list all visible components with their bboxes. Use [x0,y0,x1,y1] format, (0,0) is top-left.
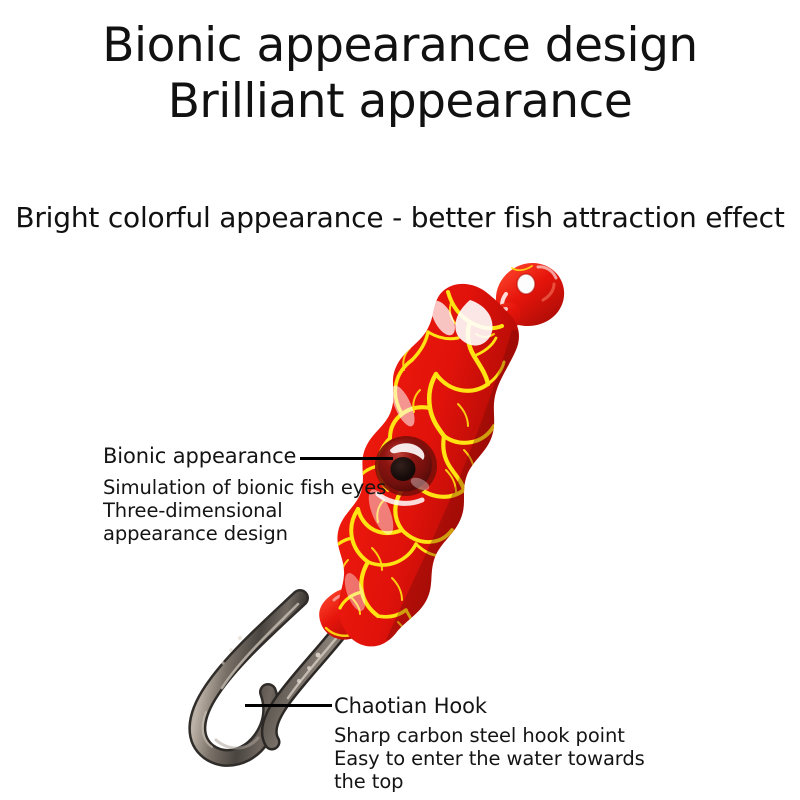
lure-neck [463,303,521,358]
page-title-line-2: Brilliant appearance [0,74,800,130]
callout-chaotian-hook: Chaotian Hook Sharp carbon steel hook po… [334,693,645,793]
lure-line-tie-eyelet [496,263,564,326]
callout-bionic-line-3: appearance design [103,522,386,545]
hook-wire [197,598,352,758]
callout-hook-line-1: Sharp carbon steel hook point [334,724,645,747]
callout-bionic-line-2: Three-dimensional [103,499,386,522]
lure-tail-collar [319,588,372,640]
callout-hook-title: Chaotian Hook [334,693,645,719]
page-title-line-1: Bionic appearance design [0,18,800,74]
page-subtitle: Bright colorful appearance - better fish… [0,200,800,236]
callout-bionic-line-1: Simulation of bionic fish eyes [103,476,386,499]
product-infographic-page: Bionic appearance design Brilliant appea… [0,0,800,800]
eye-pupil [391,457,416,481]
callout-hook-line-2: Easy to enter the water towards [334,747,645,770]
callout-bionic-body: Simulation of bionic fish eyes Three-dim… [103,476,386,545]
callout-bionic-appearance: Bionic appearance Simulation of bionic f… [103,443,386,545]
leader-line-hook [245,704,332,707]
callout-bionic-title: Bionic appearance [103,443,386,469]
callout-hook-line-3: the top [334,770,645,793]
callout-hook-body: Sharp carbon steel hook point Easy to en… [334,724,645,793]
